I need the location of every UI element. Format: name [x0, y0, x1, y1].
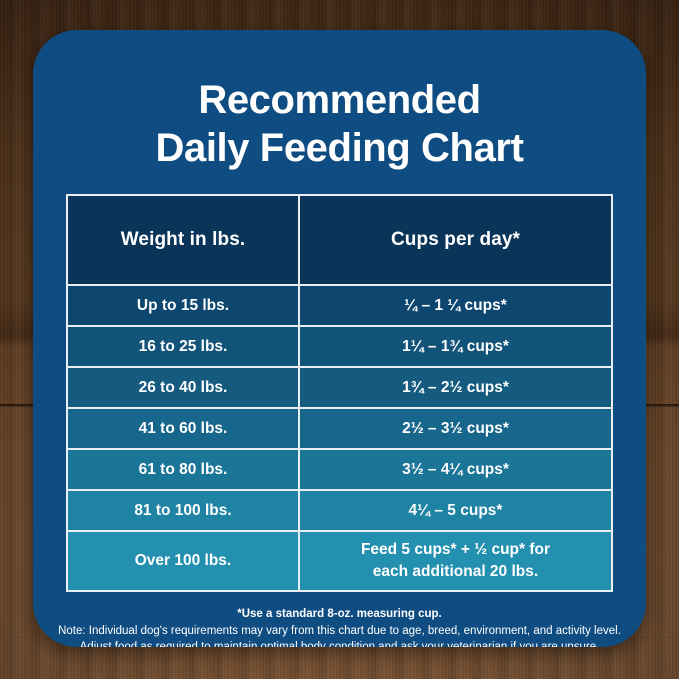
cell-cups: 4¼ – 5 cups* — [300, 491, 611, 530]
table-row: Over 100 lbs. Feed 5 cups* + ½ cup* for … — [68, 530, 611, 590]
page-title-line-2: Daily Feeding Chart — [33, 124, 646, 172]
table-row: Up to 15 lbs. ¼ – 1 ¼ cups* — [68, 284, 611, 325]
cell-cups: ¼ – 1 ¼ cups* — [300, 286, 611, 325]
cell-cups: 1¾ – 2½ cups* — [300, 368, 611, 407]
table-header-row: Weight in lbs. Cups per day* — [68, 196, 611, 284]
feeding-table: Weight in lbs. Cups per day* Up to 15 lb… — [66, 194, 613, 592]
screenshot-root: Recommended Daily Feeding Chart Weight i… — [0, 0, 679, 679]
cell-weight: 61 to 80 lbs. — [68, 450, 300, 489]
table-row: 16 to 25 lbs. 1¼ – 1¾ cups* — [68, 325, 611, 366]
table-row: 41 to 60 lbs. 2½ – 3½ cups* — [68, 407, 611, 448]
cell-weight: 81 to 100 lbs. — [68, 491, 300, 530]
footnote-veterinarian: Adjust food as required to maintain opti… — [51, 639, 628, 647]
feeding-chart-card: Recommended Daily Feeding Chart Weight i… — [33, 30, 646, 647]
column-header-cups: Cups per day* — [300, 196, 611, 284]
cell-cups: 2½ – 3½ cups* — [300, 409, 611, 448]
cell-weight: 41 to 60 lbs. — [68, 409, 300, 448]
table-row: 81 to 100 lbs. 4¼ – 5 cups* — [68, 489, 611, 530]
cell-weight: Up to 15 lbs. — [68, 286, 300, 325]
footnote-variability: Note: Individual dog's requirements may … — [51, 623, 628, 639]
cell-weight: Over 100 lbs. — [68, 532, 300, 590]
page-title-line-1: Recommended — [33, 76, 646, 124]
table-row: 61 to 80 lbs. 3½ – 4¼ cups* — [68, 448, 611, 489]
cell-weight: 26 to 40 lbs. — [68, 368, 300, 407]
footnote-measuring-cup: *Use a standard 8-oz. measuring cup. — [51, 606, 628, 623]
cell-cups: Feed 5 cups* + ½ cup* for each additiona… — [300, 532, 611, 590]
chart-title-block: Recommended Daily Feeding Chart — [33, 30, 646, 172]
cell-cups: 1¼ – 1¾ cups* — [300, 327, 611, 366]
cell-cups-multiline: Feed 5 cups* + ½ cup* for each additiona… — [361, 539, 550, 583]
cell-cups: 3½ – 4¼ cups* — [300, 450, 611, 489]
column-header-weight: Weight in lbs. — [68, 196, 300, 284]
cell-cups-line-1: Feed 5 cups* + ½ cup* for — [361, 539, 550, 561]
cell-cups-line-2: each additional 20 lbs. — [361, 561, 550, 583]
footnotes: *Use a standard 8-oz. measuring cup. Not… — [33, 606, 646, 647]
cell-weight: 16 to 25 lbs. — [68, 327, 300, 366]
table-row: 26 to 40 lbs. 1¾ – 2½ cups* — [68, 366, 611, 407]
